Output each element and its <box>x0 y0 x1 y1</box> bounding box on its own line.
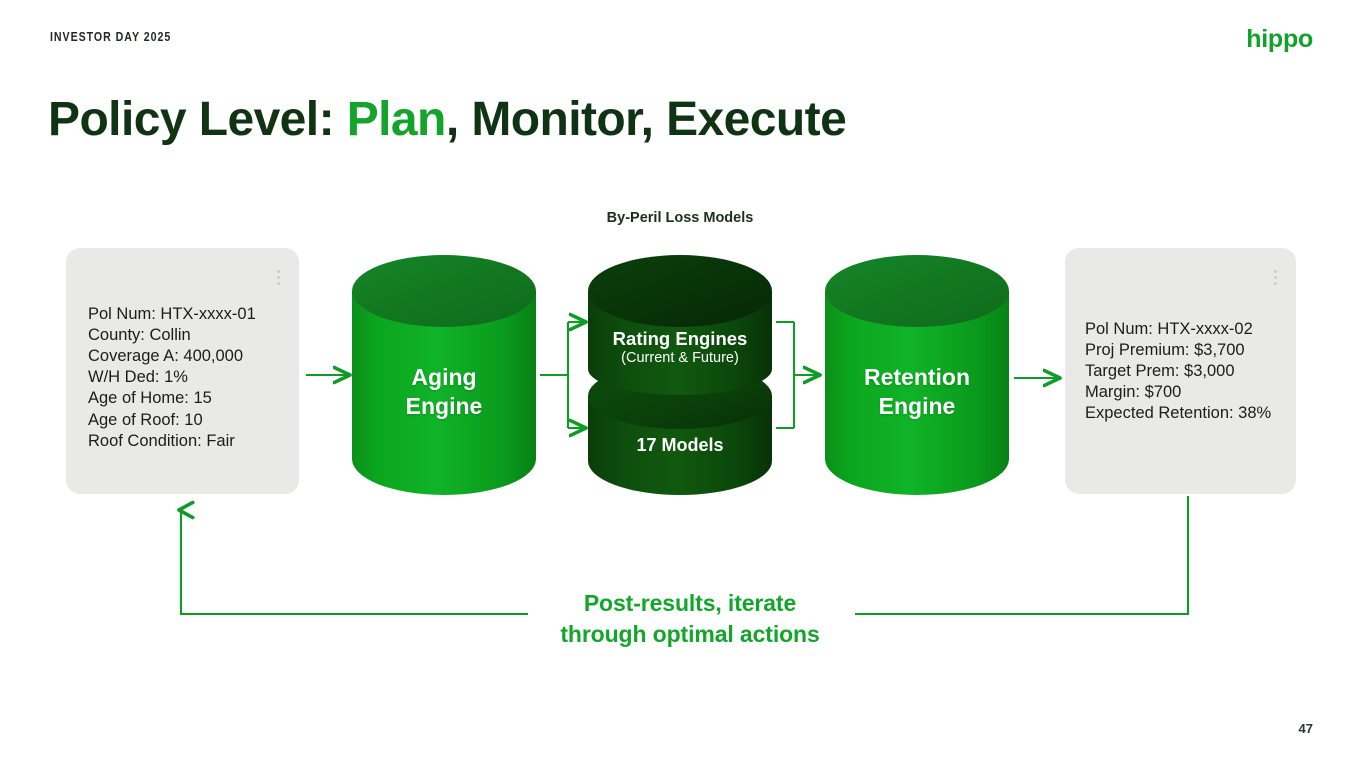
aging-engine-label-line2: Engine <box>406 393 483 419</box>
policy-card-output-lines: Pol Num: HTX-xxxx-02 Proj Premium: $3,70… <box>1085 319 1284 425</box>
models-count-label: 17 Models <box>588 435 772 456</box>
list-item: Proj Premium: $3,700 <box>1085 340 1284 361</box>
policy-card-input[interactable]: Pol Num: HTX-xxxx-01 County: Collin Cove… <box>66 248 299 494</box>
list-item: Margin: $700 <box>1085 382 1284 403</box>
retention-engine-label: Retention Engine <box>825 363 1009 421</box>
list-item: Age of Roof: 10 <box>88 410 287 431</box>
cylinder-top <box>352 255 536 327</box>
retention-engine-label-line1: Retention <box>864 364 970 390</box>
list-item: Target Prem: $3,000 <box>1085 361 1284 382</box>
policy-card-input-lines: Pol Num: HTX-xxxx-01 County: Collin Cove… <box>88 304 287 452</box>
aging-engine-cylinder[interactable]: Aging Engine <box>352 255 536 495</box>
cylinder-top <box>825 255 1009 327</box>
aging-engine-label-line1: Aging <box>411 364 476 390</box>
vertical-dots-icon[interactable] <box>277 270 281 285</box>
list-item: Pol Num: HTX-xxxx-01 <box>88 304 287 325</box>
list-item: Roof Condition: Fair <box>88 431 287 452</box>
page-number: 47 <box>1299 721 1313 736</box>
vertical-dots-icon[interactable] <box>1274 270 1278 285</box>
rating-engines-label: Rating Engines (Current & Future) <box>588 328 772 367</box>
rating-engines-title: Rating Engines <box>588 328 772 350</box>
merge-arrow-icon <box>776 322 818 428</box>
list-item: County: Collin <box>88 325 287 346</box>
list-item: W/H Ded: 1% <box>88 367 287 388</box>
retention-engine-label-line2: Engine <box>879 393 956 419</box>
list-item: Age of Home: 15 <box>88 388 287 409</box>
list-item: Coverage A: 400,000 <box>88 346 287 367</box>
split-arrow-icon <box>540 322 584 428</box>
policy-card-output[interactable]: Pol Num: HTX-xxxx-02 Proj Premium: $3,70… <box>1065 248 1296 494</box>
list-item: Pol Num: HTX-xxxx-02 <box>1085 319 1284 340</box>
list-item: Expected Retention: 38% <box>1085 403 1284 424</box>
process-diagram: By-Peril Loss Models Pol Num: HTX-xxxx-0… <box>0 0 1365 768</box>
retention-engine-cylinder[interactable]: Retention Engine <box>825 255 1009 495</box>
feedback-loop-caption: Post-results, iterate through optimal ac… <box>480 588 900 650</box>
feedback-caption-line2: through optimal actions <box>560 621 819 647</box>
stack-title-label: By-Peril Loss Models <box>560 210 800 226</box>
loss-models-stack[interactable]: Rating Engines (Current & Future) 17 Mod… <box>588 255 772 495</box>
aging-engine-label: Aging Engine <box>352 363 536 421</box>
feedback-caption-line1: Post-results, iterate <box>584 590 796 616</box>
upper-cylinder-top <box>588 255 772 327</box>
rating-engines-subtitle: (Current & Future) <box>588 350 772 367</box>
